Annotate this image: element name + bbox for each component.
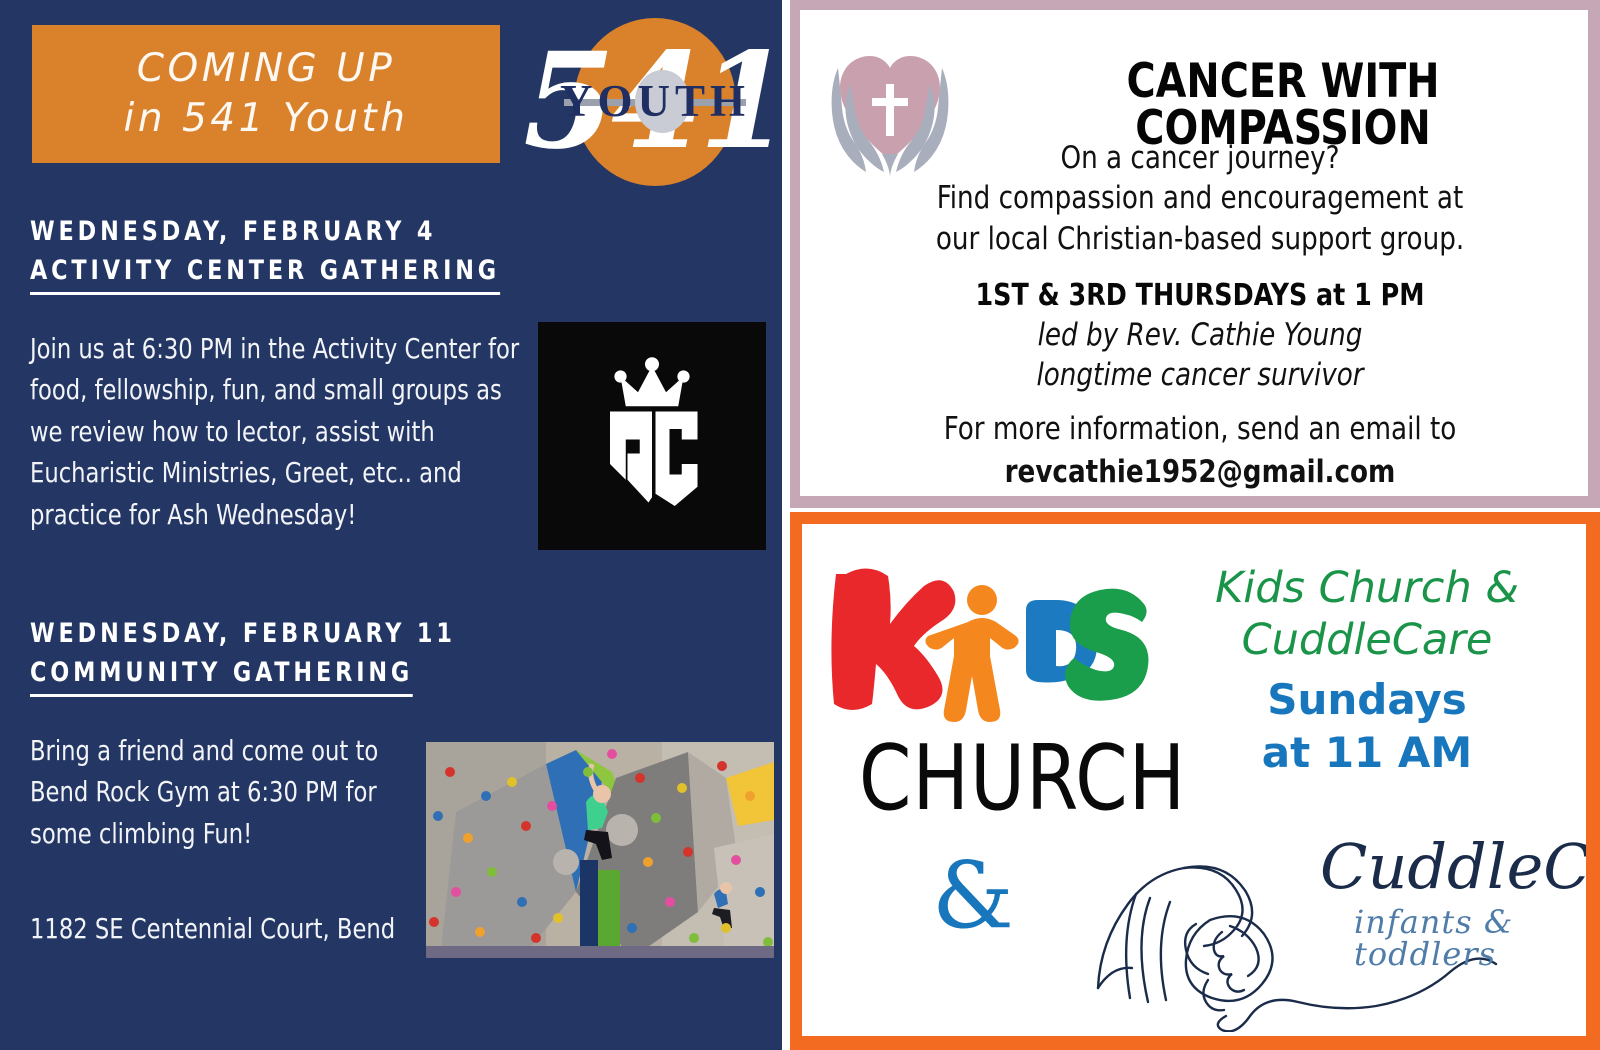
cancer-leader-line-2: longtime cancer survivor: [862, 355, 1539, 395]
cancer-schedule: 1ST & 3RD THURSDAYS at 1 PM: [862, 278, 1539, 314]
banner-line-2: in 541 Youth: [124, 97, 409, 141]
kids-title-line-1: Kids Church &: [1170, 562, 1564, 614]
event-2-title: COMMUNITY GATHERING: [30, 653, 413, 697]
ac-crown-shield-icon: [565, 349, 740, 524]
cancer-email-link[interactable]: revcathie1952@gmail.com: [862, 453, 1539, 493]
ampersand-separator: &: [932, 842, 1014, 949]
event-1-title-wrap: ACTIVITY CENTER GATHERING: [30, 251, 500, 295]
event-2-body: Bring a friend and come out to Bend Rock…: [30, 730, 408, 854]
event-2-address: 1182 SE Centennial Court, Bend: [30, 908, 444, 949]
activity-center-logo-box: [538, 322, 766, 550]
kids-card-inner: CHURCH Kids Church & CuddleCare Sundays …: [802, 524, 1586, 1036]
climbing-gym-photo: [426, 742, 774, 958]
announcement-slide: COMING UP in 541 Youth 541 YOUTH WEDNESD…: [0, 0, 1600, 1050]
event-1-date: WEDNESDAY, FEBRUARY 4: [30, 212, 436, 251]
kids-when-line-2: at 11 AM: [1170, 727, 1564, 780]
event-1-body: Join us at 6:30 PM in the Activity Cente…: [30, 328, 530, 535]
logo-word: YOUTH: [560, 14, 750, 189]
cancer-leader: led by Rev. Cathie Young longtime cancer…: [862, 315, 1539, 396]
coming-up-banner: COMING UP in 541 Youth: [32, 25, 500, 163]
event-1-title: ACTIVITY CENTER GATHERING: [30, 251, 500, 295]
kids-title-line-2: CuddleCare: [1170, 614, 1564, 666]
climbing-wall-illustration: [426, 742, 774, 958]
cancer-contact-line: For more information, send an email to: [862, 410, 1539, 450]
event-2-title-wrap: COMMUNITY GATHERING: [30, 653, 413, 697]
kids-logo: CHURCH: [830, 556, 1150, 806]
cancer-with-compassion-card: CANCER WITH COMPASSION On a cancer journ…: [790, 0, 1600, 508]
banner-line-1: COMING UP: [137, 47, 395, 91]
cancer-subtitle: On a cancer journey? Find compassion and…: [862, 138, 1539, 259]
cancer-sub-line-3: our local Christian-based support group.: [862, 219, 1539, 259]
cancer-leader-line-1: led by Rev. Cathie Young: [862, 315, 1539, 355]
event-2-date: WEDNESDAY, FEBRUARY 11: [30, 614, 456, 653]
kids-schedule: Sundays at 11 AM: [1170, 674, 1564, 779]
541-youth-logo: 541 YOUTH: [560, 14, 750, 189]
youth-panel: COMING UP in 541 Youth 541 YOUTH WEDNESD…: [0, 0, 782, 1050]
cuddlecare-tagline: infants & toddlers: [1354, 906, 1586, 970]
cancer-card-inner: CANCER WITH COMPASSION On a cancer journ…: [800, 10, 1588, 496]
cancer-sub-line-2: Find compassion and encouragement at: [862, 178, 1539, 218]
kids-title: Kids Church & CuddleCare: [1170, 562, 1564, 667]
cancer-contact: For more information, send an email to r…: [862, 410, 1539, 492]
kids-church-card: CHURCH Kids Church & CuddleCare Sundays …: [790, 512, 1600, 1050]
cancer-sub-line-1: On a cancer journey?: [862, 138, 1539, 178]
cuddlecare-name: CuddleCare: [1320, 836, 1586, 898]
kids-when-line-1: Sundays: [1170, 674, 1564, 727]
